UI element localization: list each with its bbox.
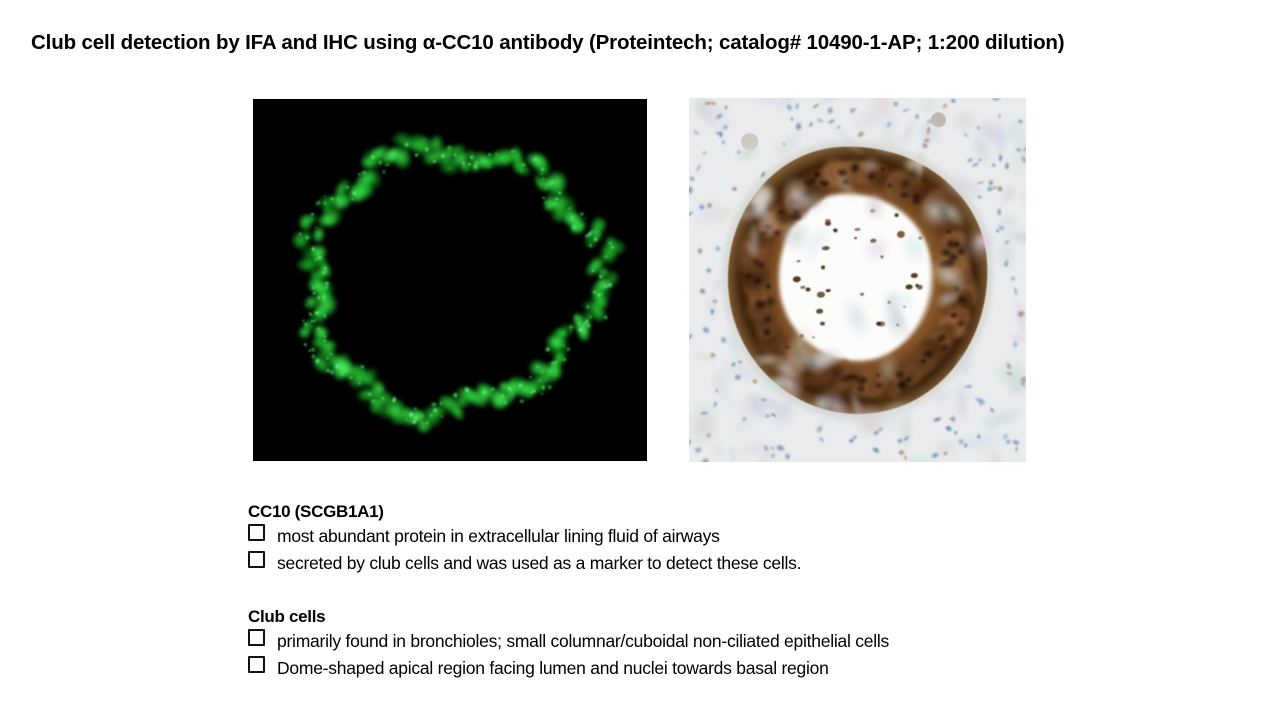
luminal-debris: [905, 284, 912, 290]
counterstained-nucleus: [825, 104, 835, 116]
fluorescent-granule: [603, 255, 608, 260]
fluorescent-granule: [556, 190, 562, 196]
body-text-block: CC10 (SCGB1A1) most abundant protein in …: [248, 500, 1148, 682]
club-cell-nucleus: [763, 282, 772, 290]
luminal-debris: [894, 213, 898, 217]
counterstained-nucleus: [1009, 274, 1018, 283]
fluorescent-granule: [570, 215, 574, 219]
fluorescent-granule: [463, 385, 469, 391]
fluorescent-granule: [381, 388, 384, 391]
club-cell-nucleus: [944, 229, 952, 235]
counterstained-nucleus: [814, 116, 825, 125]
luminal-debris: [805, 287, 810, 292]
fluorescent-granule: [541, 177, 545, 181]
counterstained-nucleus: [953, 430, 959, 437]
fluorescent-granule: [531, 388, 537, 394]
counterstained-nucleus: [689, 174, 697, 184]
section-one-heading: CC10 (SCGB1A1): [248, 500, 1148, 523]
club-cell-nucleus: [953, 318, 967, 329]
list-item-label: secreted by club cells and was used as a…: [277, 550, 801, 577]
counterstained-nucleus: [989, 161, 997, 169]
ihc-micrograph: [689, 98, 1026, 462]
fluorescent-granule: [544, 201, 547, 204]
club-cell-nucleus: [895, 378, 911, 393]
counterstained-nucleus: [702, 150, 707, 156]
list-item: secreted by club cells and was used as a…: [248, 550, 1148, 577]
counterstained-nucleus: [892, 99, 901, 108]
fluorescent-granule: [310, 346, 317, 353]
list-item: most abundant protein in extracellular l…: [248, 523, 1148, 550]
counterstained-nucleus: [942, 451, 948, 457]
fluorescent-granule: [540, 392, 543, 395]
list-item-label: most abundant protein in extracellular l…: [277, 523, 720, 550]
counterstained-nucleus: [949, 98, 958, 105]
fluorescent-granule: [577, 322, 581, 326]
fluorescent-granule: [438, 401, 443, 406]
club-cell-nucleus: [918, 357, 927, 364]
club-cell-nucleus: [938, 342, 951, 355]
checkbox-bullet-icon: [248, 629, 265, 646]
fluorescent-granule: [517, 382, 523, 388]
fluorescent-granule: [602, 314, 609, 321]
counterstained-nucleus: [848, 437, 856, 444]
counterstained-nucleus: [720, 139, 726, 147]
counterstained-nucleus: [948, 416, 954, 420]
counterstained-nucleus: [991, 98, 1002, 102]
fluorescent-granule: [423, 146, 430, 153]
fluorescent-granule: [302, 319, 305, 322]
fluorescent-granule: [548, 370, 551, 373]
club-cell-nucleus: [885, 182, 893, 189]
list-item-label: primarily found in bronchioles; small co…: [277, 628, 889, 655]
counterstained-nucleus: [932, 414, 944, 424]
figure-row: [0, 0, 1280, 470]
club-cell-nucleus: [751, 297, 767, 312]
club-cell-nucleus: [744, 271, 753, 280]
fluorescent-granule: [451, 391, 459, 399]
fluorescent-granule: [554, 374, 557, 377]
counterstained-nucleus: [994, 228, 1001, 235]
stroma-fiber: [871, 127, 906, 156]
fluorescent-granule: [586, 305, 591, 310]
fluorescent-granule: [413, 406, 418, 411]
fluorescent-granule: [585, 322, 591, 328]
luminal-debris: [816, 308, 823, 313]
luminal-debris: [819, 322, 825, 326]
counterstained-nucleus: [784, 452, 793, 462]
fluorescent-granule: [413, 152, 419, 158]
fluorescent-granule: [339, 203, 341, 205]
fluorescent-granule: [528, 374, 533, 379]
counterstained-nucleus: [1003, 161, 1010, 171]
club-cell-nucleus: [898, 177, 913, 190]
fluorescent-granule: [469, 154, 475, 160]
fluorescent-granule: [421, 422, 423, 424]
counterstained-nucleus: [691, 128, 701, 137]
counterstained-nucleus: [789, 116, 795, 123]
fluorescent-granule: [311, 290, 317, 296]
luminal-debris: [854, 227, 859, 231]
counterstained-nucleus: [1014, 445, 1019, 453]
fluorescent-granule: [541, 371, 544, 374]
counterstained-nucleus: [794, 121, 802, 132]
counterstained-nucleus: [817, 434, 827, 444]
fluorescent-granule: [584, 217, 586, 219]
counterstained-nucleus: [704, 265, 714, 275]
fluorescent-granule: [314, 311, 319, 316]
ifa-micrograph: [253, 99, 647, 461]
fluorescent-granule: [452, 152, 458, 158]
fluorescent-granule: [381, 169, 387, 175]
counterstained-nucleus: [694, 162, 704, 174]
section-two-heading: Club cells: [248, 605, 1148, 628]
checkbox-bullet-icon: [248, 656, 265, 673]
fluorescent-granule: [574, 315, 578, 319]
section-spacer: [248, 577, 1148, 605]
fluorescent-granule: [434, 403, 437, 406]
luminal-debris: [875, 321, 880, 326]
fluorescent-granule: [303, 342, 308, 347]
luminal-debris: [915, 284, 918, 287]
fluorescent-granule: [518, 398, 525, 405]
luminal-debris: [859, 293, 863, 296]
fluorescent-granule: [324, 285, 329, 290]
fluorescent-granule: [323, 338, 328, 343]
fluorescent-granule: [475, 161, 479, 165]
fluorescent-granule: [322, 313, 327, 318]
luminal-debris: [796, 260, 800, 262]
fluorescent-granule: [506, 385, 513, 392]
counterstained-nucleus: [763, 413, 770, 419]
club-cell-nucleus: [854, 374, 869, 386]
fluorescent-granule: [553, 360, 558, 365]
luminal-debris: [816, 292, 824, 298]
luminal-debris: [854, 237, 857, 239]
counterstained-nucleus: [997, 113, 1002, 120]
fluorescent-granule: [546, 384, 553, 391]
list-item: Dome-shaped apical region facing lumen a…: [248, 655, 1148, 682]
fluorescent-granule: [357, 172, 361, 176]
fluorescent-granule: [540, 384, 546, 390]
luminal-debris: [820, 265, 824, 269]
stroma-fiber: [689, 349, 721, 369]
fluorescent-granule: [386, 163, 390, 167]
fluorescent-granule: [370, 398, 377, 405]
club-cell-nucleus: [752, 275, 763, 285]
fluorescent-granule: [367, 391, 372, 396]
fluorescent-epithelial-ring: [268, 111, 632, 449]
counterstained-nucleus: [914, 113, 920, 121]
counterstained-nucleus: [700, 324, 713, 337]
counterstained-nucleus: [901, 106, 911, 114]
counterstained-nucleus: [689, 185, 694, 196]
fluorescent-granule: [310, 212, 315, 217]
counterstained-nucleus: [1012, 340, 1020, 350]
checkbox-bullet-icon: [248, 551, 265, 568]
counterstained-nucleus: [807, 120, 816, 129]
fluorescent-granule: [561, 356, 567, 362]
counterstained-nucleus: [689, 332, 695, 342]
fluorescent-granule: [351, 190, 357, 196]
fluorescent-granule: [324, 270, 328, 274]
fluorescent-granule: [431, 158, 437, 164]
fluorescent-granule: [441, 415, 444, 418]
fluorescent-granule: [562, 332, 565, 335]
fluorescent-granule: [494, 152, 497, 155]
counterstained-nucleus: [696, 247, 704, 256]
fluorescent-granule: [597, 273, 603, 279]
counterstained-nucleus: [940, 101, 950, 111]
list-item-label: Dome-shaped apical region facing lumen a…: [277, 655, 829, 682]
counterstained-nucleus: [976, 194, 983, 199]
fluorescent-granule: [316, 254, 323, 261]
counterstained-nucleus: [692, 445, 704, 455]
counterstained-nucleus: [794, 102, 800, 111]
fluorescent-granule: [315, 199, 322, 206]
fluorescent-granule: [326, 357, 330, 361]
fluorescent-granule: [606, 281, 614, 289]
fluorescent-granule: [448, 167, 451, 170]
club-cell-nucleus: [937, 332, 948, 343]
fluorescent-granule: [298, 231, 303, 236]
fluorescent-granule: [310, 313, 314, 317]
list-item: primarily found in bronchioles; small co…: [248, 628, 1148, 655]
checkbox-bullet-icon: [248, 524, 265, 541]
fluorescent-granule: [420, 414, 424, 418]
